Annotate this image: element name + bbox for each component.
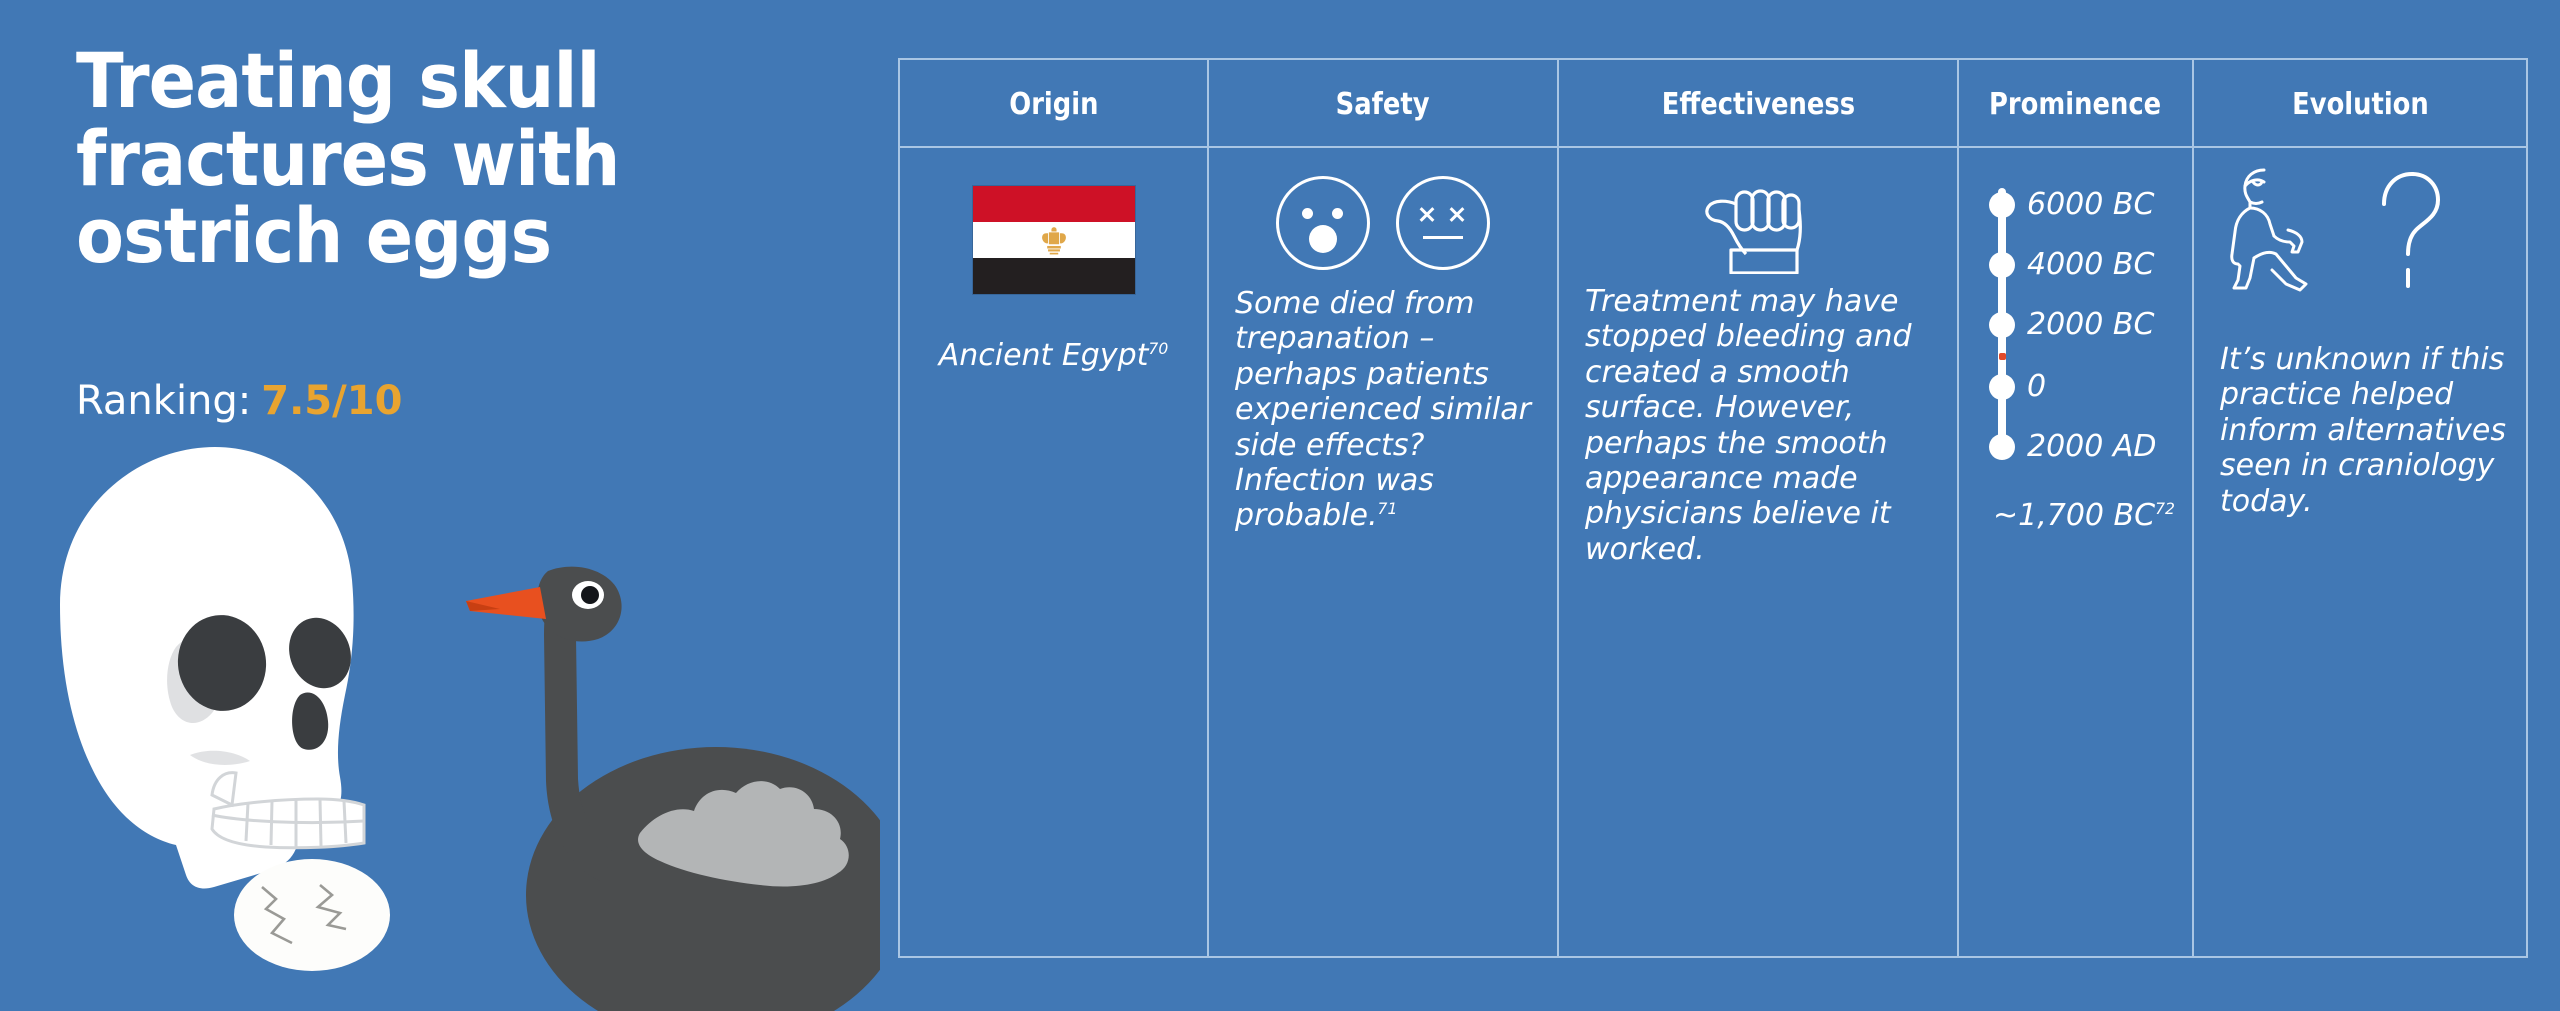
- fist-icon: [1698, 170, 1818, 274]
- timeline-dot-0: [1989, 192, 2015, 218]
- safety-text: Some died from trepanation – perhaps pat…: [1235, 286, 1531, 533]
- prominence-note: ~1,700 BC: [1993, 498, 2155, 533]
- column-header-effectiveness: Effectiveness: [1559, 60, 1957, 148]
- safety-text-wrap: Some died from trepanation – perhaps pat…: [1235, 286, 1535, 534]
- question-mark-icon: [2370, 162, 2448, 292]
- skull-illustration: [60, 447, 364, 889]
- origin-footnote: 70: [1148, 340, 1168, 358]
- effectiveness-text: Treatment may have stopped bleeding and …: [1585, 284, 1937, 567]
- timeline-icon: 6000 BC 4000 BC 2000 BC 0 2000 AD ~1,700…: [1985, 178, 2185, 508]
- walking-person-icon: [2220, 162, 2326, 292]
- cell-origin: Ancient Egypt70: [900, 148, 1207, 956]
- left-panel: Treating skull fractures with ostrich eg…: [0, 0, 880, 1011]
- cell-prominence: 6000 BC 4000 BC 2000 BC 0 2000 AD ~1,700…: [1959, 148, 2192, 956]
- timeline-dot-2: [1989, 312, 2015, 338]
- illustration-group: [0, 395, 880, 1011]
- flag-stripe-red: [973, 186, 1135, 222]
- shocked-eye-right: [1332, 208, 1343, 219]
- timeline-marker: [1999, 353, 2006, 360]
- shocked-face-icon: [1276, 176, 1370, 270]
- column-header-prominence: Prominence: [1959, 60, 2192, 148]
- infographic-canvas: Treating skull fractures with ostrich eg…: [0, 0, 2560, 1011]
- header-label-effectiveness: Effectiveness: [1661, 87, 1854, 122]
- cell-effectiveness: Treatment may have stopped bleeding and …: [1559, 148, 1957, 956]
- timeline-dot-1: [1989, 252, 2015, 278]
- timeline-dot-4: [1989, 434, 2015, 460]
- header-label-prominence: Prominence: [1989, 87, 2161, 122]
- timeline-label-4: 2000 AD: [2027, 429, 2157, 464]
- origin-label-wrap: Ancient Egypt70: [900, 338, 1207, 373]
- flag-stripe-black: [973, 258, 1135, 294]
- column-header-origin: Origin: [900, 60, 1207, 148]
- safety-icons: [1209, 176, 1557, 270]
- page-title: Treating skull fractures with ostrich eg…: [76, 42, 665, 275]
- shocked-eye-left: [1302, 208, 1313, 219]
- eagle-of-saladin-icon: [1037, 223, 1071, 257]
- timeline-label-0: 6000 BC: [2027, 187, 2154, 222]
- timeline-dot-3: [1989, 374, 2015, 400]
- column-header-safety: Safety: [1209, 60, 1557, 148]
- cell-safety: Some died from trepanation – perhaps pat…: [1209, 148, 1557, 956]
- dead-eye-right: [1448, 205, 1466, 223]
- dead-face-icon: [1396, 176, 1490, 270]
- egypt-flag-icon: [973, 186, 1135, 294]
- dead-mouth: [1423, 236, 1463, 239]
- title-line-3: ostrich eggs: [76, 197, 665, 275]
- safety-footnote: 71: [1378, 500, 1398, 518]
- cracked-egg-illustration: [234, 859, 390, 971]
- title-line-1: Treating skull: [76, 42, 665, 120]
- comparison-table: Origin Safety Effectiveness Prominence E…: [898, 58, 2528, 958]
- header-label-evolution: Evolution: [2292, 87, 2429, 122]
- prominence-note-wrap: ~1,700 BC72: [1993, 498, 2175, 533]
- ostrich-illustration: [466, 567, 880, 1011]
- dead-eye-left: [1418, 205, 1436, 223]
- header-label-safety: Safety: [1336, 87, 1430, 122]
- evolution-text: It’s unknown if this practice helped inf…: [2220, 342, 2508, 519]
- origin-label: Ancient Egypt: [939, 338, 1149, 373]
- column-header-evolution: Evolution: [2194, 60, 2526, 148]
- shocked-mouth: [1309, 225, 1337, 253]
- prominence-footnote: 72: [2155, 500, 2175, 518]
- header-label-origin: Origin: [1009, 87, 1098, 122]
- effectiveness-icon-wrap: [1559, 170, 1957, 274]
- timeline-label-1: 4000 BC: [2027, 247, 2154, 282]
- title-line-2: fractures with: [76, 120, 665, 198]
- timeline-label-2: 2000 BC: [2027, 307, 2154, 342]
- evolution-icons: [2194, 162, 2526, 292]
- cell-evolution: It’s unknown if this practice helped inf…: [2194, 148, 2526, 956]
- timeline-label-3: 0: [2027, 369, 2046, 404]
